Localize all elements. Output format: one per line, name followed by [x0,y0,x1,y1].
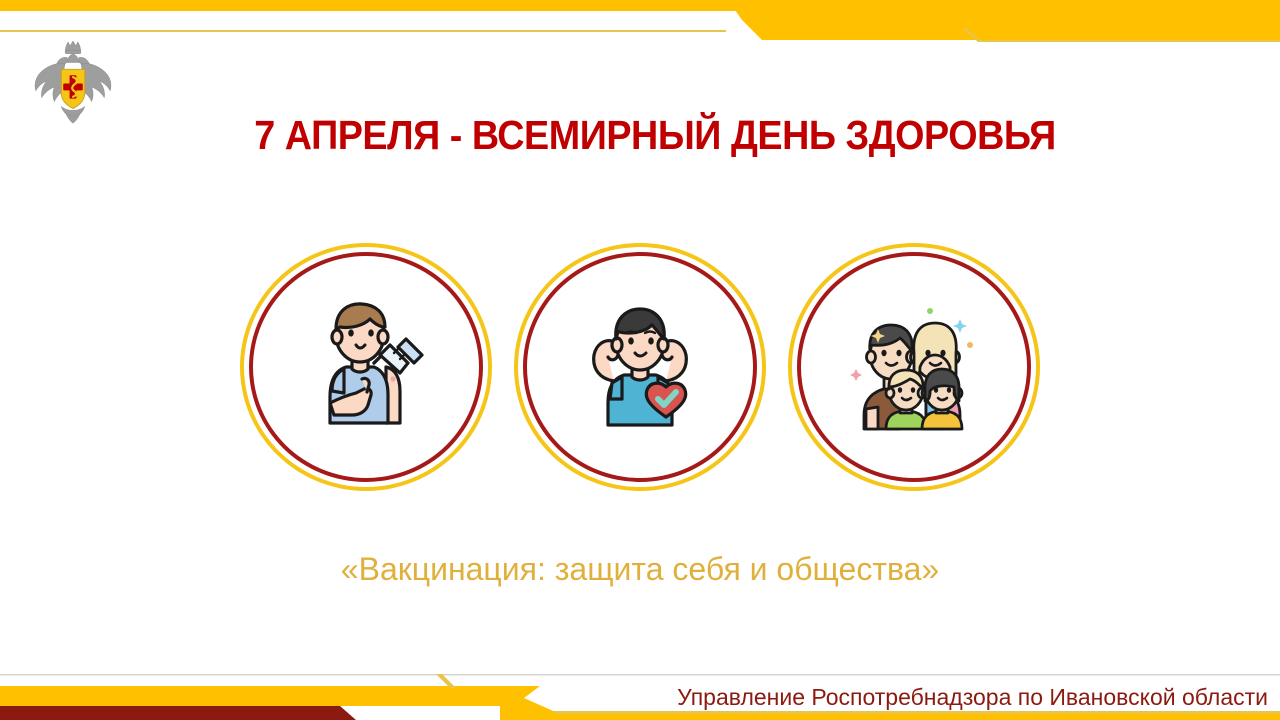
footer-organization-label: Управление Роспотребнадзора по Ивановско… [0,684,1268,711]
emblem-crown [65,41,81,51]
header-thin-line-right [980,40,1280,42]
emblem-wing-left [35,63,65,101]
slide-caption: «Вакцинация: защита себя и общества» [0,551,1280,588]
emblem-wing-right [81,63,111,101]
illustration-circles-row [0,242,1280,492]
footer-thin-line [0,674,1280,676]
eye-right [648,337,654,344]
footer-plate-underline [552,711,1280,714]
emblem-body [67,54,79,63]
person-vaccination-thumbs-up-icon [282,283,450,451]
circle-vaccination [240,243,492,491]
circle-strength [514,243,766,491]
eye-left [348,329,354,336]
eye-right [368,329,374,336]
rospotrebnadzor-emblem [24,38,122,130]
family-four-people-icon [830,283,998,451]
person-flexing-heart-check-icon [556,283,724,451]
header-white-gap [0,11,742,31]
header-decoration-band [0,0,1280,56]
header-thin-line-left [0,30,726,32]
eye-left [628,337,634,344]
circle-family [788,243,1040,491]
page-title: 7 АПРЕЛЯ - ВСЕМИРНЫЙ ДЕНЬ ЗДОРОВЬЯ [190,113,1119,158]
header-lower-yellow-band [744,22,1280,40]
